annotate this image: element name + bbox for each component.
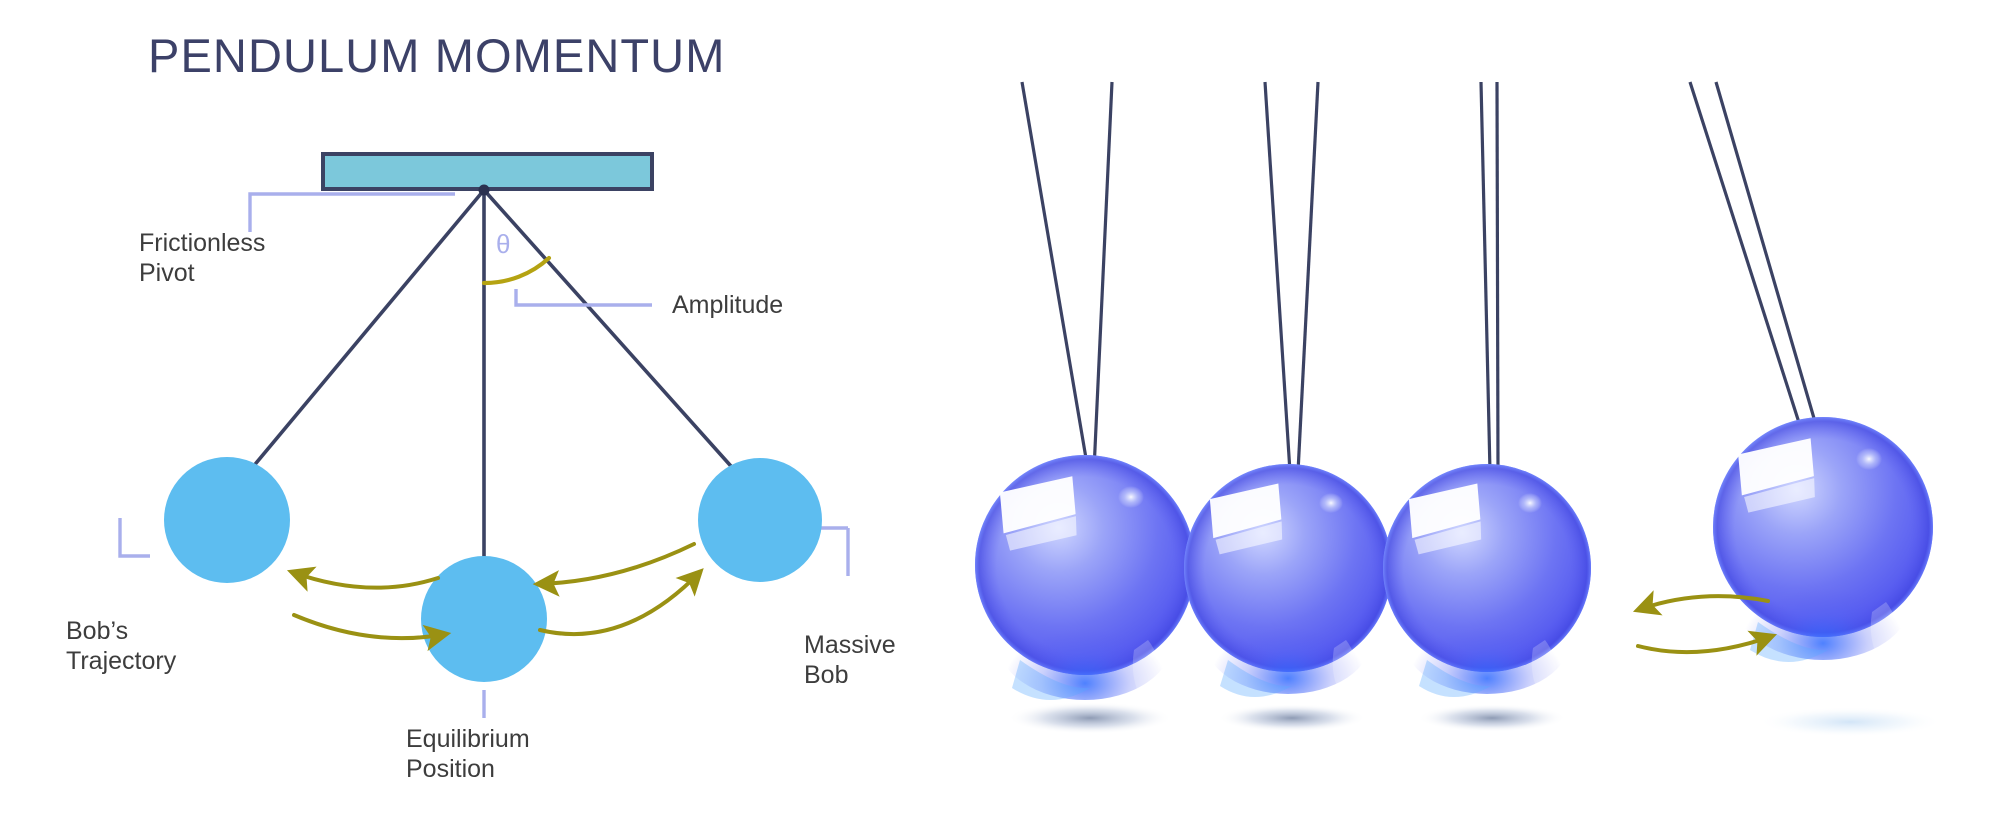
cradle-string-4a [1690,82,1802,432]
cradle-shadow-2 [1218,704,1366,732]
bob-right [698,458,822,582]
pivot-bar [323,154,652,189]
trajectory-arrow-right-lower [538,544,694,584]
pendulum-momentum-infographic: PENDULUM MOMENTUM [0,0,2000,818]
cradle-string-4b [1716,82,1818,432]
label-theta-symbol: θ [496,229,510,259]
newtons-cradle [975,82,1942,737]
cradle-ball-4 [1713,417,1933,674]
string-left [247,190,484,474]
cradle-string-3a [1481,82,1490,472]
cradle-string-1b [1094,82,1112,470]
leader-line-bobs-trajectory [120,518,150,556]
bob-center [421,556,547,682]
amplitude-arc [484,258,549,283]
cradle-string-2a [1265,82,1290,472]
trajectory-arrow-left-upper [292,572,438,588]
label-amplitude: Amplitude [672,290,783,320]
label-equilibrium-position: Equilibrium Position [406,724,530,784]
bob-left [164,457,290,583]
cradle-ball-3 [1383,464,1591,706]
cradle-shadow-4 [1758,707,1942,737]
cradle-string-2b [1298,82,1318,472]
cradle-shadow-3 [1418,704,1566,732]
label-frictionless-pivot: Frictionless Pivot [139,228,265,288]
leader-line-frictionless-pivot [250,194,455,232]
label-massive-bob: Massive Bob [804,630,896,690]
diagram-canvas [0,0,2000,818]
cradle-string-3b [1497,82,1498,472]
pivot-point [479,185,490,196]
label-bobs-trajectory: Bob’s Trajectory [66,616,176,676]
string-right [484,190,738,474]
cradle-ball-1 [975,455,1195,712]
cradle-ball-2 [1184,464,1392,706]
cradle-string-1a [1022,82,1088,470]
